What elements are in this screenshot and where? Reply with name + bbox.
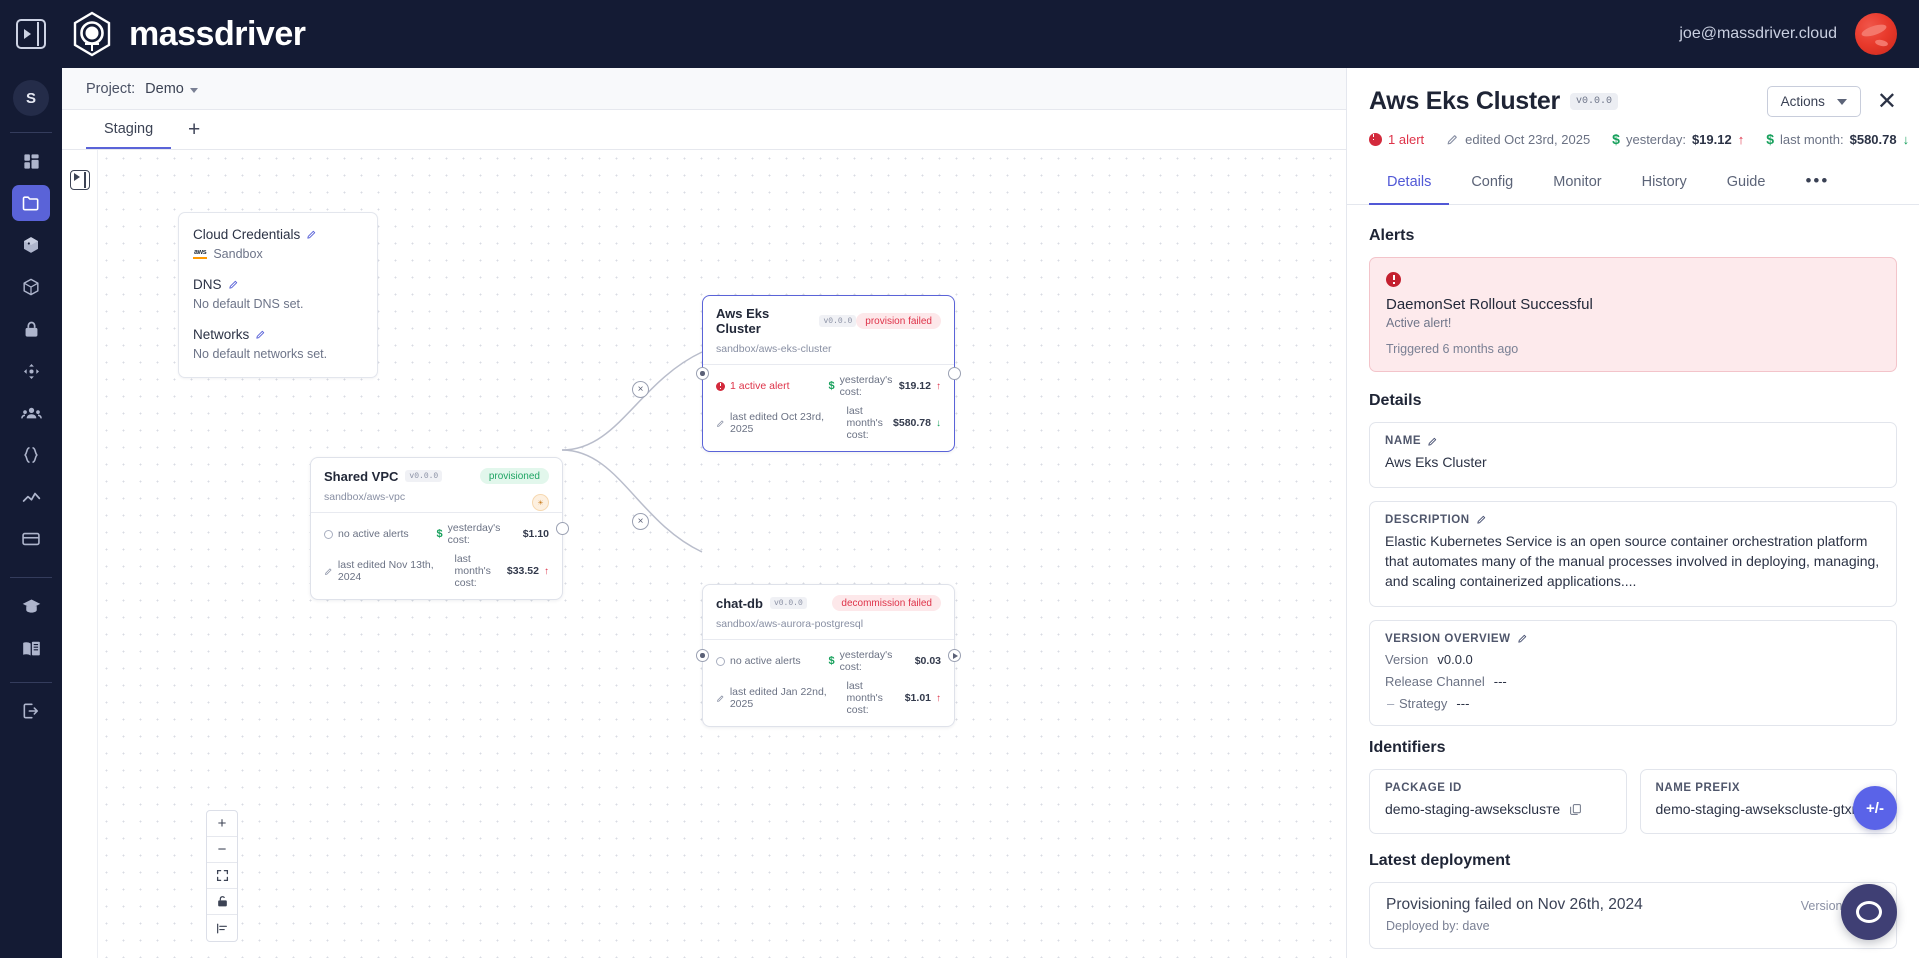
details-panel-meta: 1 alert edited Oct 23rd, 2025 $ yesterda…	[1347, 117, 1919, 163]
credit-card-icon	[21, 529, 41, 549]
sidebar-item-packages[interactable]	[12, 227, 50, 263]
tab-monitor[interactable]: Monitor	[1535, 163, 1619, 205]
node-port-right[interactable]	[948, 649, 961, 662]
pencil-icon[interactable]	[1476, 514, 1487, 525]
pencil-icon	[1446, 133, 1459, 146]
align-icon	[215, 922, 229, 935]
trend-down-icon: ↓	[1903, 132, 1910, 147]
graduation-cap-icon	[21, 596, 42, 617]
diagram-canvas[interactable]: × × Cloud Credentials aw	[98, 150, 1346, 958]
panel-version-badge: v0.0.0	[1570, 93, 1618, 110]
latest-deployment-card[interactable]: Provisioning failed on Nov 26th, 2024 De…	[1369, 882, 1897, 949]
canvas-zoom-controls: + −	[206, 810, 238, 942]
identifiers-grid: PACKAGE ID demo-staging-awseksclusте NAM…	[1369, 769, 1897, 835]
diff-toggle-button[interactable]: +/-	[1853, 786, 1897, 830]
name-card: NAME Aws Eks Cluster	[1369, 422, 1897, 488]
version-row: Version v0.0.0	[1385, 652, 1881, 667]
node-last-edited: last edited Jan 22nd, 2025	[716, 680, 829, 716]
info-group-networks: Networks No default networks set.	[193, 327, 363, 361]
folder-icon	[21, 193, 41, 213]
package-box-icon	[21, 235, 41, 255]
deployment-author: Deployed by: dave	[1386, 919, 1643, 933]
alert-icon	[716, 382, 725, 391]
node-port-right[interactable]	[948, 367, 961, 380]
top-bar-right: joe@massdriver.cloud	[1679, 13, 1897, 55]
cloud-credentials-label: Cloud Credentials	[193, 227, 363, 242]
brand-logo: massdriver	[68, 10, 305, 58]
aws-icon: aws	[193, 249, 207, 259]
node-header: Aws Eks Cluster v0.0.0 provision failed …	[703, 296, 954, 364]
trend-up-icon: ↑	[1738, 132, 1745, 147]
canvas-left-strip	[62, 150, 98, 958]
dollar-icon: $	[1612, 131, 1620, 147]
description-card: DESCRIPTION Elastic Kubernetes Service i…	[1369, 501, 1897, 607]
users-icon	[21, 403, 42, 424]
sidebar-item-api[interactable]	[12, 437, 50, 473]
package-id-value: demo-staging-awseksclusте	[1385, 800, 1611, 820]
panel-toggle-icon[interactable]	[16, 19, 46, 49]
node-port-left[interactable]	[696, 367, 709, 380]
node-alerts: 1 active alert	[716, 374, 829, 398]
node-shared-vpc[interactable]: Shared VPC v0.0.0 provisioned sandbox/aw…	[310, 457, 563, 600]
last-month-cost: $ last month: $580.78 ↓	[1766, 131, 1909, 147]
name-prefix-value: demo-staging-awsekscluste-gtxr	[1656, 800, 1882, 820]
node-port-right[interactable]	[556, 522, 569, 535]
rail-divider-bottom	[10, 682, 52, 683]
networks-value: No default networks set.	[193, 347, 363, 361]
brand-name: massdriver	[129, 15, 305, 54]
fit-icon	[216, 869, 229, 882]
node-path: sandbox/aws-aurora-postgresql	[716, 618, 941, 630]
main-area: Project: Demo Staging + ×	[62, 68, 1346, 958]
pencil-icon[interactable]	[228, 279, 239, 290]
node-yesterday-cost: $ yesterday's cost: $0.03	[829, 649, 942, 673]
cloud-credentials-value: aws Sandbox	[193, 247, 363, 261]
pencil-icon	[324, 566, 333, 577]
alert-count: 1 alert	[1369, 132, 1424, 147]
tab-config[interactable]: Config	[1453, 163, 1531, 205]
details-panel: Aws Eks Cluster v0.0.0 Actions ✕ 1 alert	[1346, 68, 1919, 958]
node-version: v0.0.0	[819, 315, 856, 327]
trend-up-icon: ↑	[544, 566, 549, 577]
status-badge: provision failed	[856, 313, 941, 329]
node-alerts: no active alerts	[324, 522, 437, 546]
name-label: NAME	[1385, 435, 1881, 447]
node-title: Shared VPC	[324, 469, 398, 484]
description-label: DESCRIPTION	[1385, 514, 1881, 526]
node-month-cost: last month's cost: $580.78 ↓	[829, 405, 942, 441]
release-channel-row: Release Channel ---	[1385, 674, 1881, 689]
dns-label: DNS	[193, 277, 363, 292]
pencil-icon[interactable]	[1517, 633, 1528, 644]
avatar[interactable]	[1855, 13, 1897, 55]
dollar-icon: $	[829, 655, 835, 667]
alert-title: DaemonSet Rollout Successful	[1386, 296, 1880, 313]
sidebar-item-billing[interactable]	[12, 521, 50, 557]
left-rail: S	[0, 68, 62, 958]
node-alerts: no active alerts	[716, 649, 829, 673]
environment-info-card: Cloud Credentials aws Sandbox	[178, 212, 378, 378]
no-alert-icon	[716, 657, 725, 666]
networks-label: Networks	[193, 327, 363, 342]
package-id-card: PACKAGE ID demo-staging-awseksclusте	[1369, 769, 1627, 835]
deployment-title: Provisioning failed on Nov 26th, 2024	[1386, 896, 1643, 914]
logout-icon	[21, 701, 41, 721]
fit-view-button[interactable]	[207, 863, 237, 889]
zoom-in-button[interactable]: +	[207, 811, 237, 837]
alert-icon	[1369, 133, 1382, 146]
alerts-heading: Alerts	[1369, 227, 1897, 245]
node-version: v0.0.0	[405, 470, 442, 482]
sidebar-item-dashboard[interactable]	[12, 143, 50, 179]
sidebar-item-connections[interactable]	[12, 353, 50, 389]
dollar-icon: $	[1766, 131, 1774, 147]
package-id-label: PACKAGE ID	[1385, 782, 1611, 794]
tab-staging[interactable]: Staging	[86, 110, 171, 149]
rail-divider-top	[10, 132, 52, 133]
node-path: sandbox/aws-vpc	[324, 491, 549, 503]
details-heading: Details	[1369, 392, 1897, 410]
status-badge: provisioned	[480, 468, 549, 484]
info-group-dns: DNS No default DNS set.	[193, 277, 363, 311]
identifiers-heading: Identifiers	[1369, 739, 1897, 757]
description-value: Elastic Kubernetes Service is an open so…	[1385, 532, 1881, 592]
node-chat-db[interactable]: chat-db v0.0.0 decommission failed sandb…	[702, 584, 955, 727]
edge-remove-button-2[interactable]: ×	[632, 513, 649, 530]
node-header: chat-db v0.0.0 decommission failed sandb…	[703, 585, 954, 639]
app-root: massdriver joe@massdriver.cloud S	[0, 0, 1919, 958]
node-stats: 1 active alert $ yesterday's cost: $19.1…	[703, 365, 954, 451]
sidebar-item-docs[interactable]	[12, 630, 50, 666]
version-overview-card: VERSION OVERVIEW Version v0.0.0 Release …	[1369, 620, 1897, 726]
tab-details[interactable]: Details	[1369, 163, 1449, 205]
book-icon	[21, 638, 42, 659]
move-arrows-icon	[22, 362, 41, 381]
alert-triggered: Triggered 6 months ago	[1386, 342, 1880, 356]
rail-divider-mid	[10, 577, 52, 578]
braces-icon	[21, 445, 41, 465]
trend-up-icon: ↑	[936, 381, 941, 392]
yesterday-cost: $ yesterday: $19.12 ↑	[1612, 131, 1744, 147]
details-panel-content: Alerts DaemonSet Rollout Successful Acti…	[1347, 205, 1919, 958]
page-title: Aws Eks Cluster	[1369, 87, 1560, 116]
node-yesterday-cost: $ yesterday's cost: $19.12 ↑	[829, 374, 942, 398]
line-chart-icon	[21, 487, 42, 508]
actions-button[interactable]: Actions	[1767, 86, 1861, 117]
sidebar-item-credentials[interactable]	[12, 311, 50, 347]
close-icon[interactable]: ✕	[1877, 90, 1897, 114]
trend-up-icon: ↑	[936, 693, 941, 704]
status-badge: decommission failed	[832, 595, 941, 611]
chat-bubble-icon[interactable]	[1841, 884, 1897, 940]
node-port-left[interactable]	[696, 649, 709, 662]
details-panel-header: Aws Eks Cluster v0.0.0 Actions ✕	[1347, 68, 1919, 117]
node-version: v0.0.0	[770, 597, 807, 609]
massdriver-logo-icon	[68, 10, 116, 58]
sidebar-item-projects[interactable]	[12, 185, 50, 221]
details-panel-tabs: Details Config Monitor History Guide •••	[1347, 163, 1919, 205]
aws-provider-icon: ☀	[532, 494, 549, 511]
dashboard-icon	[22, 152, 41, 171]
sidebar-item-metrics[interactable]	[12, 479, 50, 515]
node-header: Shared VPC v0.0.0 provisioned sandbox/aw…	[311, 458, 562, 512]
name-value: Aws Eks Cluster	[1385, 453, 1881, 473]
tab-guide[interactable]: Guide	[1709, 163, 1784, 205]
lock-icon	[216, 895, 229, 908]
body: S	[0, 68, 1919, 958]
project-bar: Project: Demo	[62, 68, 1346, 110]
canvas-wrapper: × × Cloud Credentials aw	[62, 150, 1346, 958]
project-selector[interactable]: Demo	[145, 81, 198, 97]
chevron-down-icon	[190, 88, 198, 93]
node-aws-eks-cluster[interactable]: Aws Eks Cluster v0.0.0 provision failed …	[702, 295, 955, 452]
align-button[interactable]	[207, 915, 237, 941]
project-label: Project:	[86, 81, 135, 97]
edge-remove-button-1[interactable]: ×	[632, 381, 649, 398]
expand-panel-icon[interactable]	[70, 170, 90, 190]
node-path: sandbox/aws-eks-cluster	[716, 343, 941, 355]
trend-down-icon: ↓	[936, 418, 941, 429]
node-stats: no active alerts $ yesterday's cost: $0.…	[703, 640, 954, 726]
alert-subtitle: Active alert!	[1386, 316, 1880, 330]
environment-tabs: Staging +	[62, 110, 1346, 150]
node-month-cost: last month's cost: $1.01 ↑	[829, 680, 942, 716]
org-badge[interactable]: S	[13, 80, 49, 116]
chevron-down-icon	[1837, 99, 1847, 105]
zoom-out-button[interactable]: −	[207, 837, 237, 863]
dollar-icon: $	[829, 380, 835, 392]
pencil-icon	[716, 693, 725, 704]
node-stats: no active alerts $ yesterday's cost: $1.…	[311, 513, 562, 599]
node-last-edited: last edited Nov 13th, 2024	[324, 553, 437, 589]
latest-deployment-heading: Latest deployment	[1369, 852, 1897, 870]
node-title: chat-db	[716, 596, 763, 611]
no-alert-icon	[324, 530, 333, 539]
dollar-icon: $	[437, 528, 443, 540]
top-bar: massdriver joe@massdriver.cloud	[0, 0, 1919, 68]
name-prefix-label: NAME PREFIX	[1656, 782, 1882, 794]
node-title: Aws Eks Cluster	[716, 306, 812, 336]
user-email: joe@massdriver.cloud	[1679, 25, 1837, 43]
strategy-row: Strategy ---	[1385, 696, 1881, 711]
edited-date: edited Oct 23rd, 2025	[1446, 132, 1590, 147]
alert-icon	[1386, 272, 1401, 287]
tab-more-button[interactable]: •••	[1787, 163, 1847, 205]
pencil-icon	[716, 418, 725, 429]
lock-icon	[22, 320, 41, 339]
pencil-icon[interactable]	[306, 229, 317, 240]
node-yesterday-cost: $ yesterday's cost: $1.10	[437, 522, 550, 546]
sidebar-item-bundles[interactable]	[12, 269, 50, 305]
node-last-edited: last edited Oct 23rd, 2025	[716, 405, 829, 441]
node-month-cost: last month's cost: $33.52 ↑	[437, 553, 550, 589]
alert-card[interactable]: DaemonSet Rollout Successful Active aler…	[1369, 257, 1897, 372]
sidebar-item-learn[interactable]	[12, 588, 50, 624]
cube-icon	[21, 277, 41, 297]
tab-history[interactable]: History	[1624, 163, 1705, 205]
pencil-icon[interactable]	[255, 329, 266, 340]
sidebar-item-logout[interactable]	[12, 693, 50, 729]
version-overview-label: VERSION OVERVIEW	[1385, 633, 1881, 645]
info-group-credentials: Cloud Credentials aws Sandbox	[193, 227, 363, 261]
pencil-icon[interactable]	[1427, 436, 1438, 447]
lock-view-button[interactable]	[207, 889, 237, 915]
dns-value: No default DNS set.	[193, 297, 363, 311]
add-environment-button[interactable]: +	[177, 110, 211, 149]
copy-icon[interactable]	[1569, 803, 1582, 816]
sidebar-item-team[interactable]	[12, 395, 50, 431]
